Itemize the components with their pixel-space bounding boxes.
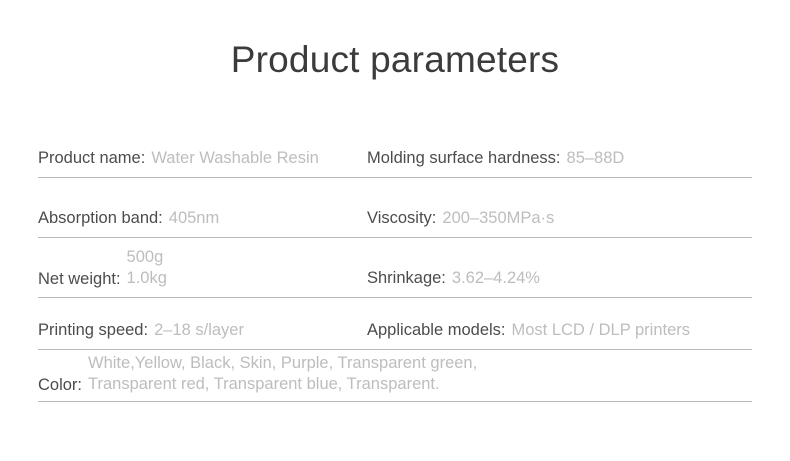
product-parameters-page: Product parameters Product name: Water W… — [0, 0, 790, 461]
spec-cell-molding-surface-hardness: Molding surface hardness: 85–88D — [367, 148, 624, 168]
spec-value: 3.62–4.24% — [452, 268, 540, 288]
spec-value: Water Washable Resin — [151, 148, 319, 168]
spec-value: Most LCD / DLP printers — [512, 320, 691, 340]
spec-value-line-2: 1.0kg — [127, 268, 167, 289]
spec-cell-viscosity: Viscosity: 200–350MPa·s — [367, 208, 554, 228]
spec-label: Printing speed: — [38, 320, 148, 340]
spec-value: 200–350MPa·s — [442, 208, 554, 228]
spec-value: 2–18 s/layer — [154, 320, 244, 340]
spec-label: Net weight: — [38, 269, 121, 289]
spec-value-group: White,Yellow, Black, Skin, Purple, Trans… — [88, 353, 477, 395]
spec-value: 405nm — [169, 208, 219, 228]
spec-label: Absorption band: — [38, 208, 163, 228]
spec-label: Color: — [38, 375, 82, 395]
table-row: Net weight: 500g 1.0kg Shrinkage: 3.62–4… — [38, 238, 752, 298]
spec-cell-printing-speed: Printing speed: 2–18 s/layer — [38, 320, 244, 340]
spec-cell-product-name: Product name: Water Washable Resin — [38, 148, 319, 168]
spec-label: Product name: — [38, 148, 145, 168]
spec-cell-applicable-models: Applicable models: Most LCD / DLP printe… — [367, 320, 690, 340]
spec-label: Shrinkage: — [367, 268, 446, 288]
spec-label: Molding surface hardness: — [367, 148, 561, 168]
spec-cell-shrinkage: Shrinkage: 3.62–4.24% — [367, 268, 540, 288]
spec-value-line-2: Transparent red, Transparent blue, Trans… — [88, 374, 477, 395]
spec-value: 85–88D — [567, 148, 625, 168]
spec-cell-absorption-band: Absorption band: 405nm — [38, 208, 219, 228]
spec-value-group: 500g 1.0kg — [127, 247, 167, 289]
table-row: Printing speed: 2–18 s/layer Applicable … — [38, 298, 752, 350]
spec-label: Viscosity: — [367, 208, 436, 228]
table-row: Absorption band: 405nm Viscosity: 200–35… — [38, 178, 752, 238]
table-row: Color: White,Yellow, Black, Skin, Purple… — [38, 350, 752, 402]
specification-table: Product name: Water Washable Resin Moldi… — [38, 118, 752, 402]
spec-cell-net-weight: Net weight: 500g 1.0kg — [38, 247, 167, 289]
spec-value-line-1: 500g — [127, 247, 167, 268]
spec-label: Applicable models: — [367, 320, 506, 340]
spec-cell-color: Color: White,Yellow, Black, Skin, Purple… — [38, 353, 477, 395]
table-row: Product name: Water Washable Resin Moldi… — [38, 118, 752, 178]
spec-value-line-1: White,Yellow, Black, Skin, Purple, Trans… — [88, 353, 477, 374]
page-title: Product parameters — [0, 38, 790, 82]
